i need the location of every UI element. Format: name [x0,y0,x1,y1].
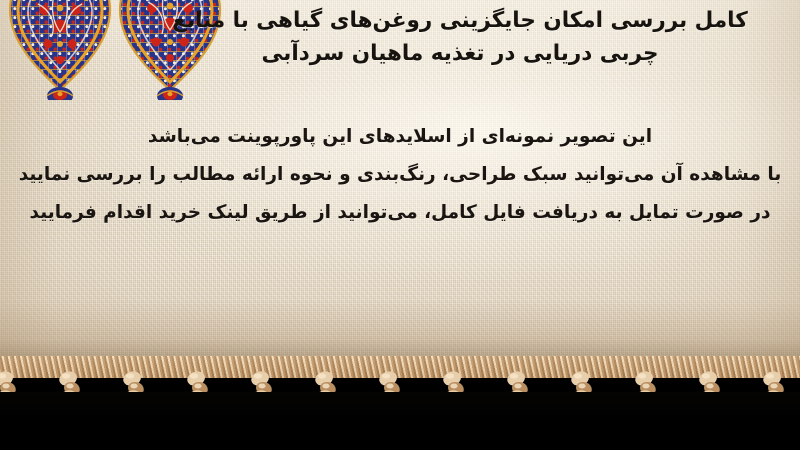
slide-body-line-3: در صورت تمایل به دریافت فایل کامل، می‌تو… [18,194,782,232]
fringe-black-floor [0,392,800,450]
slide-body-line-2: با مشاهده آن می‌توانید سبک طراحی، رنگ‌بن… [18,156,782,194]
slide-body-text: این تصویر نمونه‌ای از اسلایدهای این پاور… [18,118,782,232]
slide-title-line-1: کامل بررسی امکان جایگزینی روغن‌های گیاهی… [150,4,770,37]
presentation-slide: کامل بررسی امکان جایگزینی روغن‌های گیاهی… [0,0,800,450]
slide-body-line-1: این تصویر نمونه‌ای از اسلایدهای این پاور… [18,118,782,156]
slide-title: کامل بررسی امکان جایگزینی روغن‌های گیاهی… [150,4,770,70]
slide-title-line-2: چربی دریایی در تغذیه ماهیان سردآبی [150,37,770,70]
persian-illumination-medallion-left-icon [8,0,112,104]
